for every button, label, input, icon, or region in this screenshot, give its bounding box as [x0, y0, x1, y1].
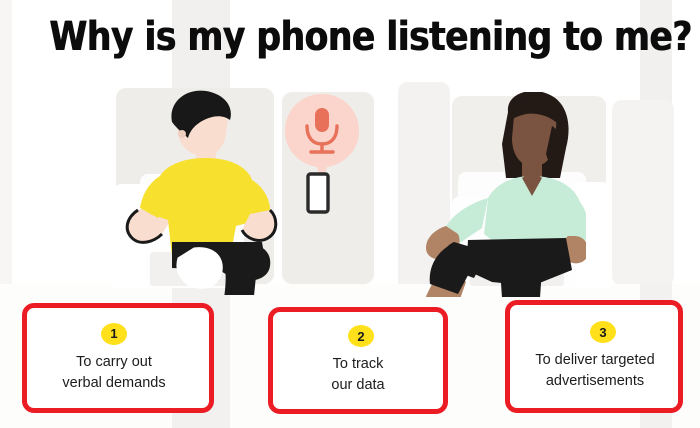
page-title: Why is my phone listening to me?: [49, 14, 651, 60]
seated-woman-illustration: [396, 92, 586, 297]
answer-box-3[interactable]: 3 To deliver targeted advertisements: [505, 300, 683, 413]
answer-text-2: To track our data: [331, 354, 384, 395]
wall-panel-5: [612, 100, 674, 286]
answer-text-1: To carry out verbal demands: [62, 352, 165, 393]
answer-text-3: To deliver targeted advertisements: [535, 350, 654, 391]
smartphone-icon: [305, 172, 331, 214]
answer-box-1[interactable]: 1 To carry out verbal demands: [22, 303, 214, 413]
answer-number-badge-2: 2: [348, 325, 374, 347]
answer-number-badge-3: 3: [590, 321, 616, 343]
answer-number-badge-1: 1: [101, 323, 127, 345]
seated-man-illustration: [120, 90, 285, 295]
answer-box-2[interactable]: 2 To track our data: [268, 307, 448, 414]
infographic-canvas: Why is my phone listening to me? 1 To ca…: [0, 0, 700, 428]
